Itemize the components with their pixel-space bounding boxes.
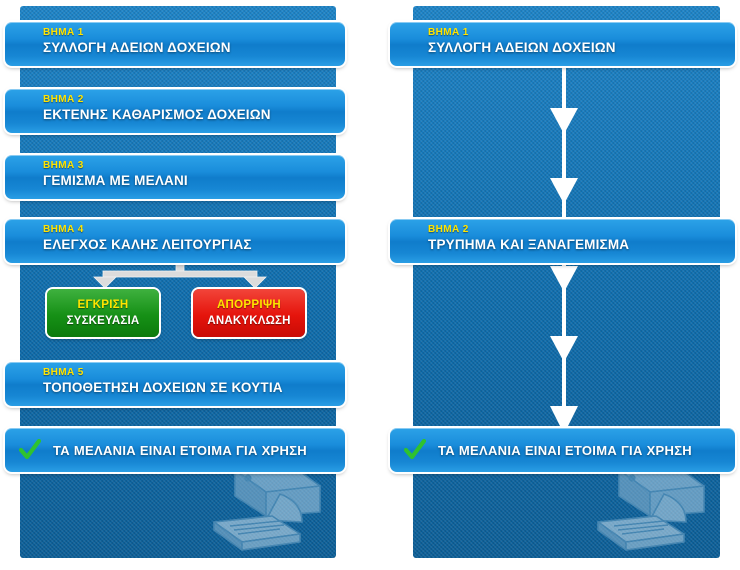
right-final-bar[interactable]: ΤΑ ΜΕΛΑΝΙΑ ΕΙΝΑΙ ΕΤΟΙΜΑ ΓΙΑ ΧΡΗΣΗ: [390, 428, 735, 472]
step-number: ΒΗΜΑ 2: [43, 93, 345, 106]
step-number: ΒΗΜΑ 1: [43, 26, 345, 39]
step-title: ΕΛΕΓΧΟΣ ΚΑΛΗΣ ΛΕΙΤΟΥΡΓΙΑΣ: [43, 236, 345, 254]
step-number: ΒΗΜΑ 1: [428, 26, 735, 39]
left-step-bar-1[interactable]: ΒΗΜΑ 1 ΣΥΛΛΟΓΗ ΑΔΕΙΩΝ ΔΟΧΕΙΩΝ: [5, 22, 345, 66]
step-title: ΣΥΛΛΟΓΗ ΑΔΕΙΩΝ ΔΟΧΕΙΩΝ: [43, 39, 345, 57]
check-icon: [19, 439, 41, 461]
left-step-bar-5[interactable]: ΒΗΜΑ 5 ΤΟΠΟΘΕΤΗΣΗ ΔΟΧΕΙΩΝ ΣΕ ΚΟΥΤΙΑ: [5, 362, 345, 406]
step-title: ΣΥΛΛΟΓΗ ΑΔΕΙΩΝ ΔΟΧΕΙΩΝ: [428, 39, 735, 57]
step-number: ΒΗΜΑ 3: [43, 159, 345, 172]
left-final-bar[interactable]: ΤΑ ΜΕΛΑΝΙΑ ΕΙΝΑΙ ΕΤΟΙΜΑ ΓΙΑ ΧΡΗΣΗ: [5, 428, 345, 472]
decision-action: ΑΝΑΚΥΚΛΩΣΗ: [207, 313, 290, 329]
final-text: ΤΑ ΜΕΛΑΝΙΑ ΕΙΝΑΙ ΕΤΟΙΜΑ ΓΙΑ ΧΡΗΣΗ: [438, 443, 692, 458]
decision-result: ΕΓΚΡΙΣΗ: [77, 298, 128, 313]
decision-approve[interactable]: ΕΓΚΡΙΣΗ ΣΥΣΚΕΥΑΣΙΑ: [47, 289, 159, 337]
step-title: ΕΚΤΕΝΗΣ ΚΑΘΑΡΙΣΜΟΣ ΔΟΧΕΙΩΝ: [43, 106, 345, 124]
final-text: ΤΑ ΜΕΛΑΝΙΑ ΕΙΝΑΙ ΕΤΟΙΜΑ ΓΙΑ ΧΡΗΣΗ: [53, 443, 307, 458]
printer-icon: [180, 464, 330, 556]
step-number: ΒΗΜΑ 2: [428, 223, 735, 236]
step-title: ΓΕΜΙΣΜΑ ΜΕ ΜΕΛΑΝΙ: [43, 172, 345, 190]
step-title: ΤΡΥΠΗΜΑ ΚΑΙ ΞΑΝΑΓΕΜΙΣΜΑ: [428, 236, 735, 254]
check-icon: [404, 439, 426, 461]
step-title: ΤΟΠΟΘΕΤΗΣΗ ΔΟΧΕΙΩΝ ΣΕ ΚΟΥΤΙΑ: [43, 379, 345, 397]
decision-result: ΑΠΟΡΡΙΨΗ: [217, 298, 281, 313]
step-number: ΒΗΜΑ 5: [43, 366, 345, 379]
right-process-panel: [413, 6, 720, 558]
right-step-bar-2[interactable]: ΒΗΜΑ 2 ΤΡΥΠΗΜΑ ΚΑΙ ΞΑΝΑΓΕΜΙΣΜΑ: [390, 219, 735, 263]
decision-action: ΣΥΣΚΕΥΑΣΙΑ: [67, 313, 140, 329]
printer-icon: [564, 464, 714, 556]
decision-reject[interactable]: ΑΠΟΡΡΙΨΗ ΑΝΑΚΥΚΛΩΣΗ: [193, 289, 305, 337]
step-number: ΒΗΜΑ 4: [43, 223, 345, 236]
left-step-bar-3[interactable]: ΒΗΜΑ 3 ΓΕΜΙΣΜΑ ΜΕ ΜΕΛΑΝΙ: [5, 155, 345, 199]
left-step-bar-4[interactable]: ΒΗΜΑ 4 ΕΛΕΓΧΟΣ ΚΑΛΗΣ ΛΕΙΤΟΥΡΓΙΑΣ: [5, 219, 345, 263]
right-step-bar-1[interactable]: ΒΗΜΑ 1 ΣΥΛΛΟΓΗ ΑΔΕΙΩΝ ΔΟΧΕΙΩΝ: [390, 22, 735, 66]
left-step-bar-2[interactable]: ΒΗΜΑ 2 ΕΚΤΕΝΗΣ ΚΑΘΑΡΙΣΜΟΣ ΔΟΧΕΙΩΝ: [5, 89, 345, 133]
flowchart-canvas: ΒΗΜΑ 1 ΣΥΛΛΟΓΗ ΑΔΕΙΩΝ ΔΟΧΕΙΩΝ ΒΗΜΑ 2 ΕΚΤ…: [0, 0, 740, 570]
